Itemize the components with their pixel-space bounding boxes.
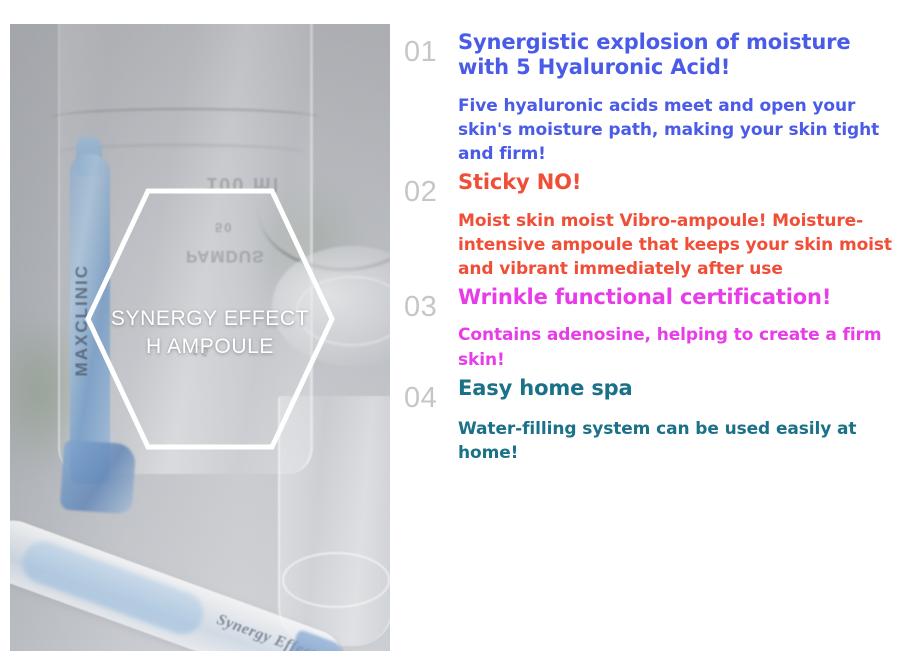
feature-content: Sticky NO! Moist skin moist Vibro-ampoul… <box>458 170 896 281</box>
feature-number: 04 <box>404 376 458 413</box>
feature-content: Synergistic explosion of moisture with 5… <box>458 30 896 166</box>
beaker-rim <box>50 108 320 128</box>
glass-cylinder <box>278 396 390 646</box>
beaker-marking-50ml: 50 <box>215 220 233 235</box>
hexagon-badge-label: SYNERGY EFFECT H AMPOULE <box>85 305 335 360</box>
hexagon-label-line-1: SYNERGY EFFECT <box>85 305 335 333</box>
feature-content: Wrinkle functional certification! Contai… <box>458 285 896 372</box>
feature-content: Easy home spa Water-filling system can b… <box>458 376 896 466</box>
feature-title: Synergistic explosion of moisture with 5… <box>458 30 896 81</box>
feature-description: Five hyaluronic acids meet and open your… <box>458 94 896 166</box>
feature-number: 02 <box>404 170 458 207</box>
feature-item-04: 04 Easy home spa Water-filling system ca… <box>404 376 896 466</box>
feature-description: Moist skin moist Vibro-ampoule! Moisture… <box>458 209 896 281</box>
feature-number: 01 <box>404 30 458 67</box>
feature-list: 01 Synergistic explosion of moisture wit… <box>404 30 896 652</box>
feature-number: 03 <box>404 285 458 322</box>
feature-title: Sticky NO! <box>458 170 896 195</box>
feature-item-03: 03 Wrinkle functional certification! Con… <box>404 285 896 372</box>
ampoule-base <box>60 440 137 515</box>
feature-title: Wrinkle functional certification! <box>458 285 896 310</box>
feature-title: Easy home spa <box>458 376 896 401</box>
feature-item-02: 02 Sticky NO! Moist skin moist Vibro-amp… <box>404 170 896 281</box>
feature-item-01: 01 Synergistic explosion of moisture wit… <box>404 30 896 166</box>
product-detail-page: 100 ml 50 PAMDUS 16 MAXCLINIC Synergy Ef… <box>0 0 900 662</box>
beaker-marking-brand: PAMDUS <box>186 246 264 266</box>
feature-description: Contains adenosine, helping to create a … <box>458 323 896 371</box>
hexagon-label-line-2: H AMPOULE <box>85 333 335 361</box>
feature-description: Water-filling system can be used easily … <box>458 417 896 465</box>
glass-cylinder-base <box>282 552 390 608</box>
